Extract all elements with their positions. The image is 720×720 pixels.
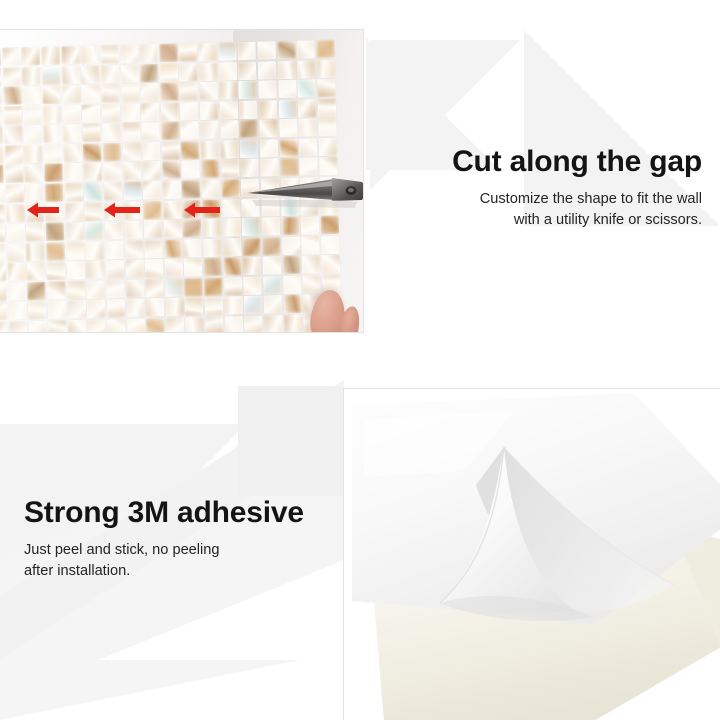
mosaic-tile [141,122,159,140]
mosaic-tile [126,279,144,297]
mosaic-tile [7,263,25,281]
mosaic-tile [221,179,239,197]
mosaic-tile [8,302,26,320]
mosaic-tile [42,86,60,104]
mosaic-tile [68,320,86,332]
mosaic-tile [165,278,183,296]
mosaic-tile [43,125,61,143]
mosaic-tile [244,316,262,332]
mosaic-tile [317,79,335,97]
mosaic-tile [5,145,23,163]
mosaic-tile [259,100,277,118]
mosaic-tile [81,46,99,64]
mosaic-tile [218,42,236,60]
mosaic-tile [0,244,6,262]
mosaic-tile [163,200,181,218]
mosaic-tile [238,61,256,79]
mosaic-tile [46,242,64,260]
mosaic-tile [65,222,83,240]
mosaic-tile [46,223,64,241]
mosaic-tile [143,201,161,219]
mosaic-tile [120,64,138,82]
mosaic-tile [85,202,103,220]
mosaic-tile [317,59,335,77]
mosaic-tile [104,182,122,200]
mosaic-tile [165,298,183,316]
mosaic-tile [201,160,219,178]
mosaic-tile [243,257,261,275]
mosaic-tile [45,183,63,201]
mosaic-tile [101,84,119,102]
mosaic-tile [0,283,7,301]
mosaic-tile [82,104,100,122]
mosaic-tile [163,181,181,199]
mosaic-tile [106,260,124,278]
mosaic-tile [100,45,118,63]
mosaic-tile [283,295,301,313]
mosaic-tile [0,146,3,164]
mosaic-tile [204,258,222,276]
mosaic-tile [121,84,139,102]
mosaic-tile [282,256,300,274]
mosaic-tile [64,163,82,181]
mosaic-tile [239,100,257,118]
mosaic-tile [221,160,239,178]
mosaic-tile [322,255,340,273]
mosaic-tile [81,65,99,83]
mosaic-tile [0,165,4,183]
mosaic-tile [125,240,143,258]
mosaic-tile [321,235,339,253]
mosaic-tile [239,81,257,99]
mosaic-tile [278,60,296,78]
mosaic-tile [160,63,178,81]
mosaic-tile [278,80,296,98]
mosaic-tile [0,107,2,125]
mosaic-tile [83,143,101,161]
mosaic-tile [201,140,219,158]
mosaic-tile [5,165,23,183]
mosaic-tile [242,218,260,236]
mosaic-tile [319,138,337,156]
cut-direction-arrow-3 [184,202,220,218]
mosaic-tile [180,102,198,120]
mosaic-tile [185,297,203,315]
mosaic-tile [298,79,316,97]
mosaic-tile [204,277,222,295]
mosaic-tile [141,103,159,121]
mosaic-tile [297,60,315,78]
mosaic-tile [122,142,140,160]
mosaic-tile [23,106,41,124]
mosaic-tile [103,162,121,180]
mosaic-tile [199,62,217,80]
mosaic-tile [44,164,62,182]
mosaic-tile [28,301,46,319]
mosaic-tile [162,161,180,179]
mosaic-tile [258,61,276,79]
cut-subtext: Customize the shape to fit the wall with… [372,189,702,230]
mosaic-tile [8,282,26,300]
mosaic-tile [161,122,179,140]
mosaic-tile [102,123,120,141]
mosaic-tile [64,183,82,201]
mosaic-tile [4,106,22,124]
mosaic-tile [205,317,223,332]
mosaic-tile [183,219,201,237]
mosaic-tile [164,220,182,238]
mosaic-tile [27,282,45,300]
mosaic-tile [0,87,2,105]
adhesive-sheet-illustration [344,389,720,720]
mosaic-tile [3,67,21,85]
mosaic-tile [161,102,179,120]
mosaic-tile [107,299,125,317]
mosaic-tile [5,184,23,202]
mosaic-tile [224,297,242,315]
mosaic-tile [222,218,240,236]
mosaic-tile [279,139,297,157]
mosaic-tile [140,64,158,82]
mosaic-tile [164,239,182,257]
mosaic-tile [203,219,221,237]
mosaic-tile [284,315,302,332]
mosaic-tile [184,258,202,276]
mosaic-tile [264,296,282,314]
mosaic-tile [61,46,79,64]
mosaic-tile [62,105,80,123]
mosaic-tile [164,259,182,277]
mosaic-tile [0,322,8,332]
mosaic-tile [205,297,223,315]
mosaic-tile [25,164,43,182]
mosaic-tile [146,318,164,332]
mosaic-tile [66,261,84,279]
mosaic-tile [222,199,240,217]
mosaic-tile [107,319,125,332]
mosaic-tile [24,125,42,143]
infographic-canvas: Cut along the gap Customize the shape to… [0,0,720,720]
mosaic-tile [146,298,164,316]
mosaic-tile [297,40,315,58]
mosaic-tile [2,47,20,65]
mosaic-tile [186,317,204,332]
mosaic-tile [181,141,199,159]
adhesive-headline: Strong 3M adhesive [24,497,344,529]
mosaic-tile [3,87,21,105]
mosaic-tile [184,239,202,257]
adhesive-subtext-line-2: after installation. [24,561,344,582]
mosaic-tile [120,45,138,63]
mosaic-tile [62,66,80,84]
mosaic-tile [302,255,320,273]
mosaic-tile [220,101,238,119]
mosaic-tile [244,276,262,294]
mosaic-tile [262,237,280,255]
mosaic-tile [179,63,197,81]
mosaic-tile [182,180,200,198]
mosaic-tile [181,121,199,139]
mosaic-tile [279,119,297,137]
mosaic-tile [302,275,320,293]
mosaic-tile [47,262,65,280]
mosaic-tile [223,238,241,256]
mosaic-tile [0,48,1,66]
cut-headline: Cut along the gap [372,146,702,178]
mosaic-tile [260,139,278,157]
mosaic-tile [24,145,42,163]
cut-direction-arrow-2 [104,202,140,218]
mosaic-tile [282,236,300,254]
mosaic-tile [141,83,159,101]
mosaic-tile [223,257,241,275]
mosaic-tile [4,126,22,144]
mosaic-tile [63,144,81,162]
mosaic-tile [0,67,1,85]
mosaic-tile [238,42,256,60]
mosaic-tile [67,300,85,318]
mosaic-tile [244,296,262,314]
mosaic-tile [140,44,158,62]
mosaic-tile [258,80,276,98]
mosaic-tile [0,204,5,222]
scissors-blade [246,166,363,220]
mosaic-tile [22,66,40,84]
mosaic-tile [179,43,197,61]
mosaic-tile [67,281,85,299]
adhesive-subtext: Just peel and stick, no peeling after in… [24,540,344,581]
mosaic-tile [6,224,24,242]
mosaic-tile [62,85,80,103]
mosaic-tile [87,319,105,332]
mosaic-tile [301,236,319,254]
mosaic-tile [185,278,203,296]
mosaic-tile [143,181,161,199]
mosaic-tile [263,256,281,274]
mosaic-tile [277,41,295,59]
mosaic-tile [86,261,104,279]
mosaic-tile [6,204,24,222]
mosaic-tile [224,277,242,295]
mosaic-tile [240,139,258,157]
mosaic-tile [166,318,184,332]
mosaic-tile [66,242,84,260]
mosaic-tile [87,300,105,318]
cut-subtext-line-2: with a utility knife or scissors. [372,210,702,231]
mosaic-tile [200,121,218,139]
mosaic-tile [0,126,3,144]
mosaic-tile [299,138,317,156]
mosaic-tile [125,260,143,278]
mosaic-tile [316,40,334,58]
mosaic-tile [264,315,282,332]
mosaic-tile [103,143,121,161]
mosaic-photo-panel [0,29,364,333]
mosaic-scene [0,30,363,332]
mosaic-tile [202,180,220,198]
mosaic-tile [219,81,237,99]
mosaic-tile [283,275,301,293]
mosaic-tile [142,142,160,160]
feature-cut-text: Cut along the gap Customize the shape to… [372,146,702,231]
mosaic-tile [28,321,46,332]
adhesive-subtext-line-1: Just peel and stick, no peeling [24,540,344,561]
mosaic-tile [41,46,59,64]
mosaic-tile [198,43,216,61]
mosaic-tile [43,105,61,123]
mosaic-tile [318,98,336,116]
mosaic-tile [42,66,60,84]
feature-adhesive-text: Strong 3M adhesive Just peel and stick, … [24,497,344,582]
cut-subtext-line-1: Customize the shape to fit the wall [372,189,702,210]
mosaic-tile [83,124,101,142]
mosaic-tile [47,281,65,299]
adhesive-scene [344,389,720,720]
mosaic-tile [262,217,280,235]
mosaic-tile [257,41,275,59]
mosaic-tile [44,144,62,162]
mosaic-tile [48,301,66,319]
mosaic-tile [22,47,40,65]
mosaic-tile [0,263,6,281]
mosaic-tile [48,320,66,332]
mosaic-tile [126,299,144,317]
mosaic-tile [123,162,141,180]
mosaic-tile [145,279,163,297]
mosaic-tile [84,163,102,181]
mosaic-tile [0,302,7,320]
mosaic-tile [123,182,141,200]
mosaic-tile [122,123,140,141]
mosaic-tile [145,259,163,277]
mosaic-tile [298,99,316,117]
mosaic-tile [220,120,238,138]
mosaic-tile [124,221,142,239]
adhesive-photo-panel [343,388,720,720]
mosaic-tile [318,118,336,136]
mosaic-tile [199,82,217,100]
mosaic-tile [159,44,177,62]
mosaic-tile [221,140,239,158]
mosaic-tile [86,280,104,298]
mosaic-tile [182,160,200,178]
mosaic-tile [27,262,45,280]
mosaic-tile [82,85,100,103]
mosaic-tile [27,243,45,261]
mosaic-tile [85,222,103,240]
mosaic-tile [0,224,5,242]
mosaic-tile [278,99,296,117]
mosaic-tile [127,318,145,332]
mosaic-tile [7,243,25,261]
mosaic-tile [259,119,277,137]
mosaic-tile [219,62,237,80]
mosaic-tile [84,182,102,200]
cut-direction-arrow-1 [27,202,59,218]
mosaic-tile [299,118,317,136]
mosaic-tile [9,321,27,332]
mosaic-tile [106,280,124,298]
mosaic-tile [263,276,281,294]
mosaic-tile [102,104,120,122]
mosaic-tile [142,161,160,179]
mosaic-tile [203,238,221,256]
mosaic-tile [25,184,43,202]
mosaic-tile [162,141,180,159]
mosaic-tile [225,316,243,332]
mosaic-tile [121,103,139,121]
mosaic-tile [144,220,162,238]
mosaic-tile [105,221,123,239]
mosaic-tile [243,237,261,255]
mosaic-tile [26,223,44,241]
mosaic-tile [85,241,103,259]
mosaic-tile [144,240,162,258]
mosaic-tile [160,83,178,101]
mosaic-tile [101,65,119,83]
mosaic-tile [105,241,123,259]
mosaic-tile [240,120,258,138]
mosaic-tile [63,124,81,142]
mosaic-tile [0,185,4,203]
mosaic-tile [65,203,83,221]
mosaic-tile [200,101,218,119]
mosaic-tile [23,86,41,104]
mosaic-tile [180,82,198,100]
